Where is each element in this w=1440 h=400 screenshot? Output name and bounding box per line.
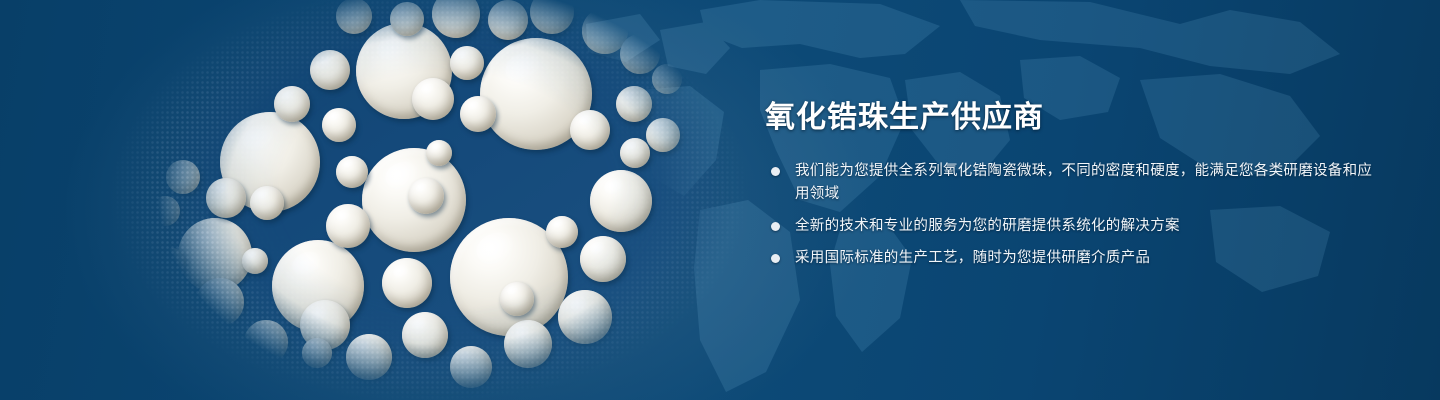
banner-copy: 氧化锆珠生产供应商 我们能为您提供全系列氧化锆陶瓷微珠，不同的密度和硬度，能满足…	[765, 100, 1385, 270]
product-photo-zirconia-beads	[150, 0, 730, 400]
banner-bullet-list: 我们能为您提供全系列氧化锆陶瓷微珠，不同的密度和硬度，能满足您各类研磨设备和应用…	[765, 160, 1385, 270]
bullet-dot-icon	[771, 254, 780, 263]
banner-bullet-text: 采用国际标准的生产工艺，随时为您提供研磨介质产品	[795, 250, 1150, 266]
bullet-dot-icon	[771, 222, 780, 231]
banner-bullet-item: 全新的技术和专业的服务为您的研磨提供系统化的解决方案	[765, 215, 1385, 238]
banner-headline: 氧化锆珠生产供应商	[765, 100, 1385, 136]
banner-bullet-text: 我们能为您提供全系列氧化锆陶瓷微珠，不同的密度和硬度，能满足您各类研磨设备和应用…	[795, 163, 1372, 202]
hero-banner: 氧化锆珠生产供应商 我们能为您提供全系列氧化锆陶瓷微珠，不同的密度和硬度，能满足…	[0, 0, 1440, 400]
banner-bullet-item: 采用国际标准的生产工艺，随时为您提供研磨介质产品	[765, 247, 1385, 270]
bullet-dot-icon	[771, 167, 780, 176]
banner-bullet-text: 全新的技术和专业的服务为您的研磨提供系统化的解决方案	[795, 218, 1180, 234]
banner-bullet-item: 我们能为您提供全系列氧化锆陶瓷微珠，不同的密度和硬度，能满足您各类研磨设备和应用…	[765, 160, 1385, 206]
